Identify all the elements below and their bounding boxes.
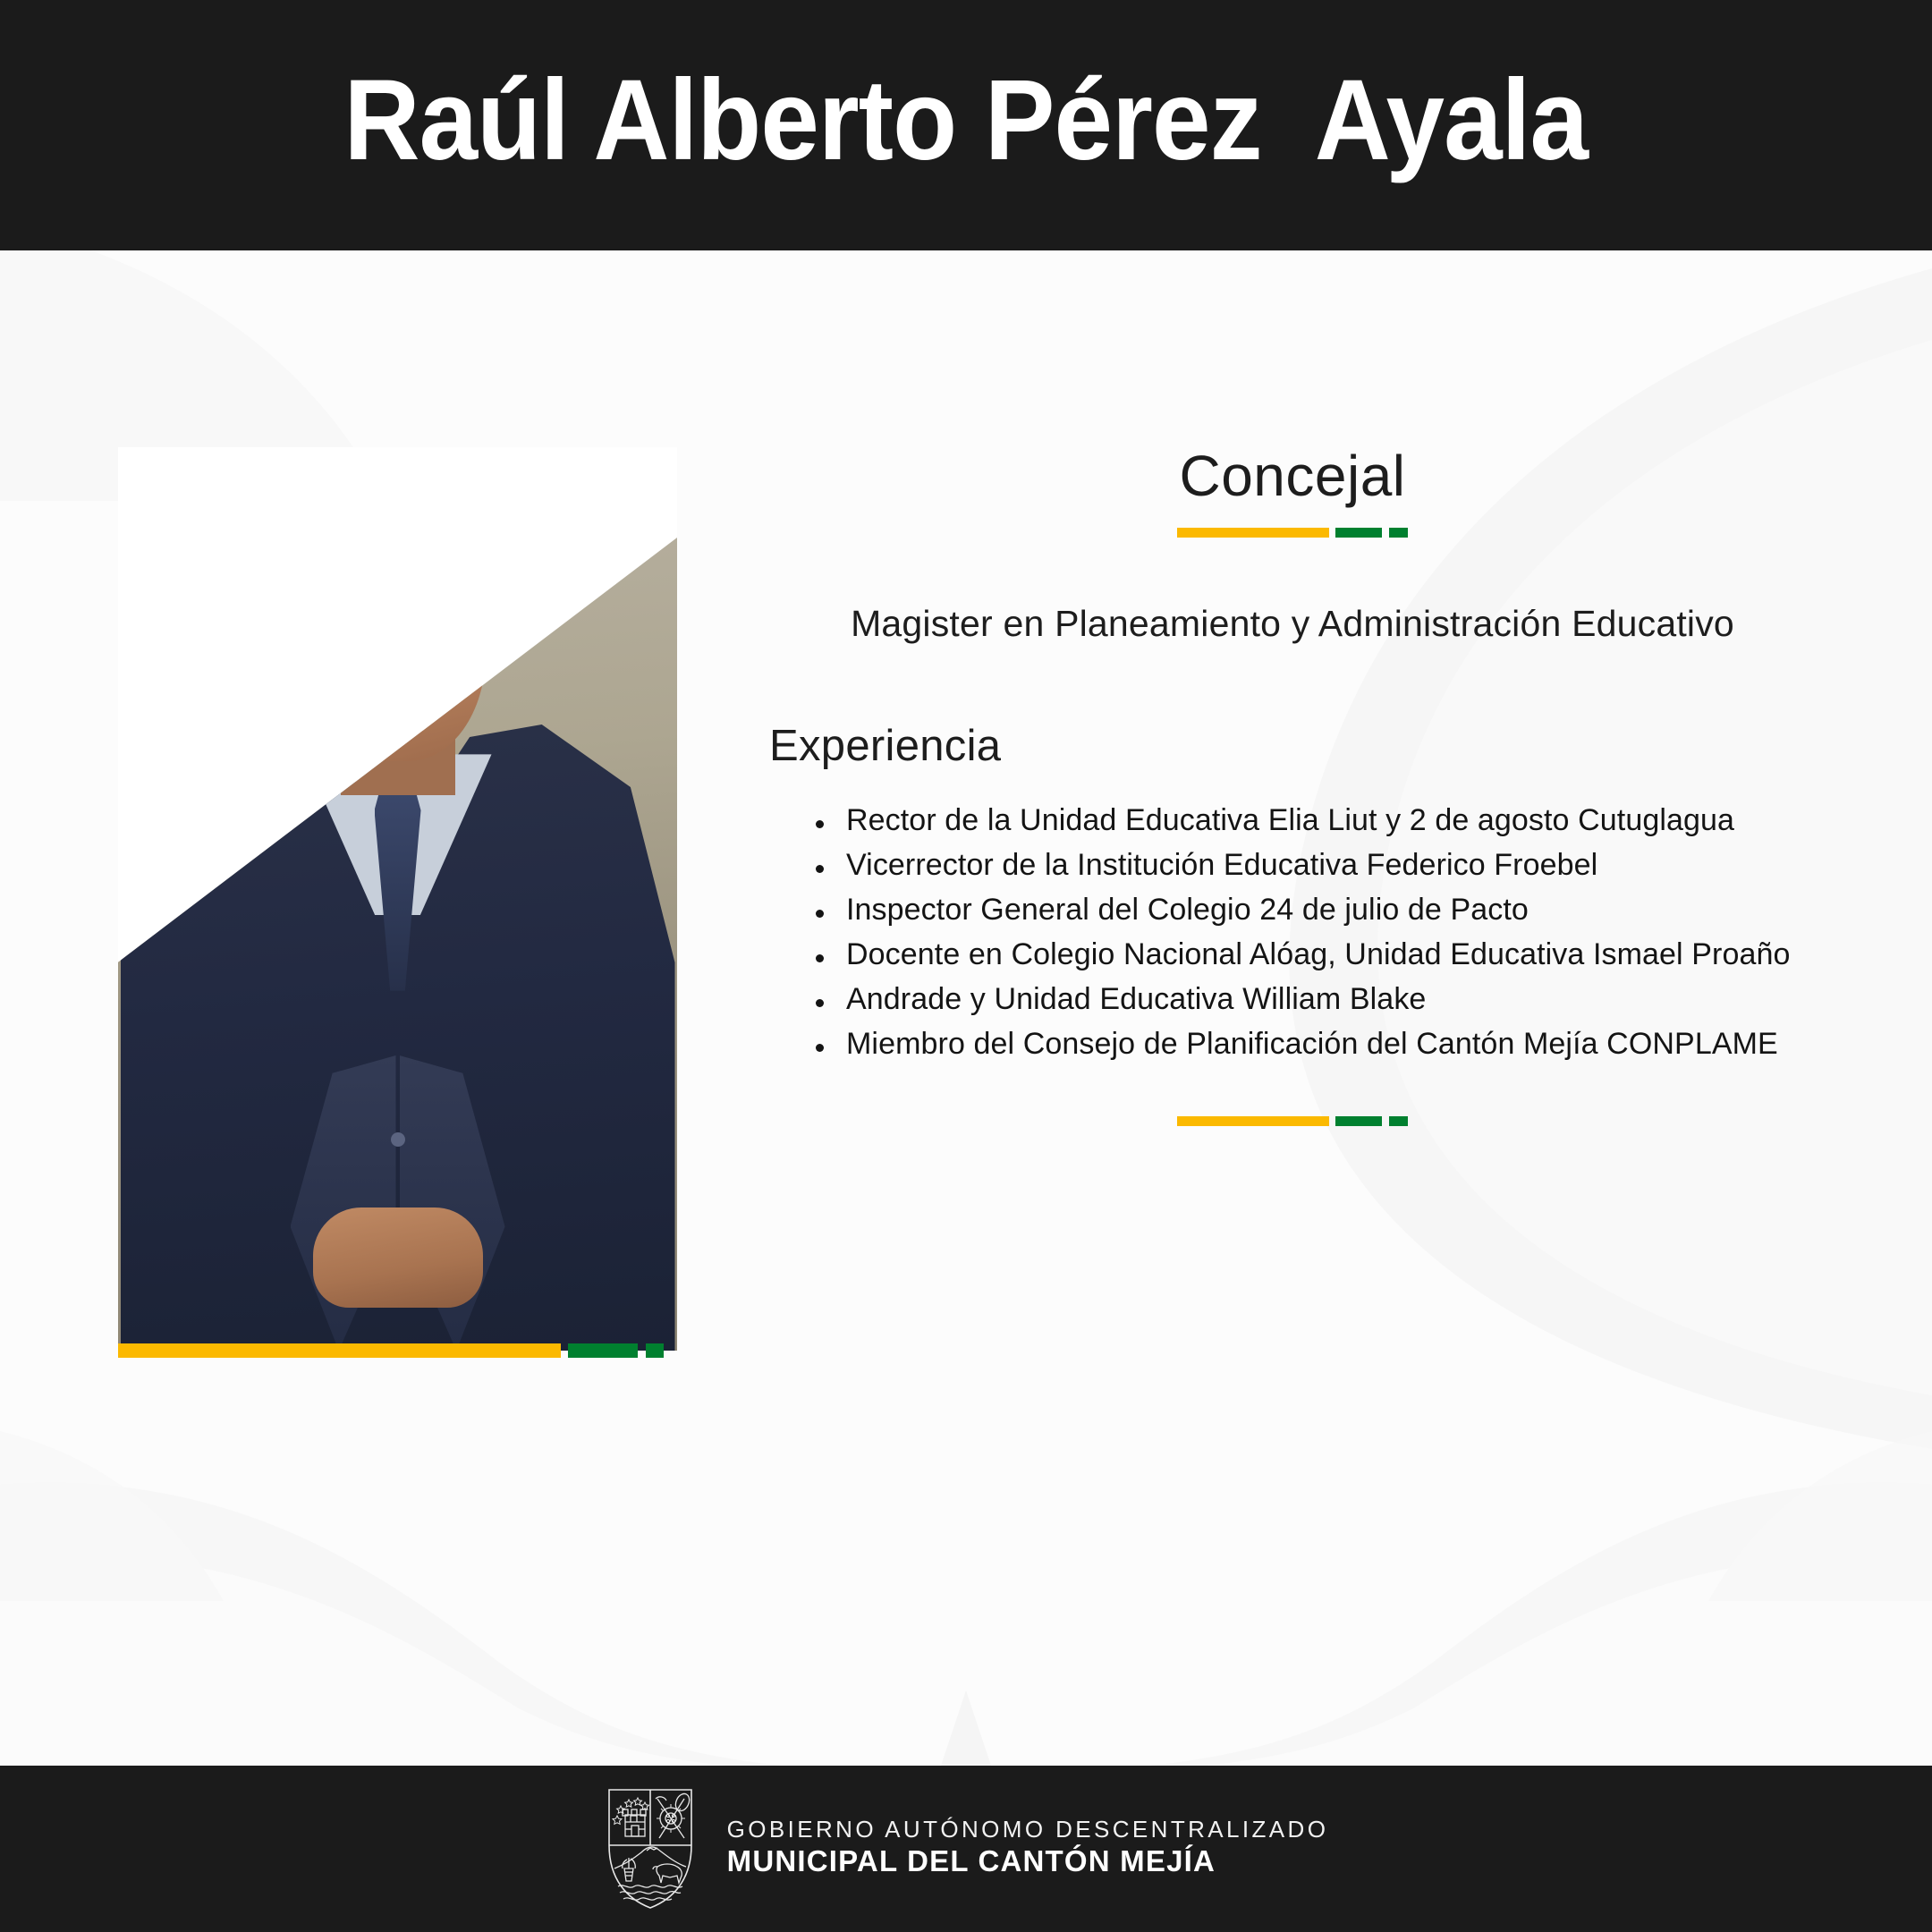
role-divider: [1177, 528, 1408, 538]
accent-gap-2: [638, 1343, 646, 1358]
eye-right: [428, 640, 461, 652]
hair-shape: [301, 513, 495, 631]
list-item: Vicerrector de la Institución Educativa …: [812, 850, 1798, 880]
photo-subject: [118, 447, 677, 1351]
footer-text: GOBIERNO AUTÓNOMO DESCENTRALIZADO MUNICI…: [727, 1815, 1329, 1883]
bottom-divider-gap-2: [1382, 1116, 1389, 1126]
experience-heading: Experiencia: [769, 721, 1798, 771]
photo-background: [118, 447, 677, 1351]
eyebrow-right: [419, 623, 468, 640]
accent-segment-green-short: [646, 1343, 664, 1358]
nose-shape: [378, 667, 418, 708]
mouth-shape: [365, 711, 431, 729]
role-title: Concejal: [787, 447, 1798, 504]
photo-accent-bar: [118, 1343, 677, 1358]
bottom-divider-segment-green-short: [1389, 1116, 1408, 1126]
eyebrow-left: [327, 623, 377, 640]
role-block: Concejal: [787, 447, 1798, 538]
accent-gap: [561, 1343, 568, 1358]
photo-frame: [118, 447, 677, 1351]
divider-segment-green-short: [1389, 528, 1408, 538]
list-item: Docente en Colegio Nacional Alóag, Unida…: [812, 939, 1798, 970]
list-item: Inspector General del Colegio 24 de juli…: [812, 894, 1798, 925]
footer-line-top: GOBIERNO AUTÓNOMO DESCENTRALIZADO: [727, 1815, 1329, 1844]
bottom-divider-segment-green-long: [1335, 1116, 1382, 1126]
degree-subtitle: Magister en Planeamiento y Administració…: [787, 602, 1798, 646]
accent-segment-green-long: [568, 1343, 638, 1358]
head-shape: [310, 538, 486, 761]
divider-gap-2: [1382, 528, 1389, 538]
suit-button: [391, 1132, 405, 1147]
footer-line-bottom: MUNICIPAL DEL CANTÓN MEJÍA: [727, 1843, 1329, 1879]
coat-of-arms-icon: [604, 1786, 697, 1911]
list-item: Rector de la Unidad Educativa Elia Liut …: [812, 805, 1798, 835]
eye-left: [335, 640, 368, 652]
bottom-divider: [1177, 1116, 1408, 1126]
bottom-divider-segment-yellow: [1177, 1116, 1329, 1126]
poster-page: Raúl Alberto Pérez Ayala: [0, 0, 1932, 1932]
list-item: Miembro del Consejo de Planificación del…: [812, 1029, 1798, 1059]
divider-segment-green-long: [1335, 528, 1382, 538]
hands-shape: [313, 1207, 483, 1308]
list-item: Andrade y Unidad Educativa William Blake: [812, 984, 1798, 1014]
accent-segment-yellow: [118, 1343, 561, 1358]
experience-list: Rector de la Unidad Educativa Elia Liut …: [787, 805, 1798, 1059]
portrait-photo: [118, 447, 677, 1351]
header-bar: Raúl Alberto Pérez Ayala: [0, 0, 1932, 250]
divider-gap-1: [1329, 528, 1335, 538]
page-title: Raúl Alberto Pérez Ayala: [344, 64, 1589, 187]
bottom-divider-gap-1: [1329, 1116, 1335, 1126]
content-column: Concejal Magister en Planeamiento y Admi…: [787, 447, 1798, 1126]
mustache-shape: [350, 692, 446, 714]
footer-bar: GOBIERNO AUTÓNOMO DESCENTRALIZADO MUNICI…: [0, 1766, 1932, 1932]
divider-segment-yellow: [1177, 528, 1329, 538]
